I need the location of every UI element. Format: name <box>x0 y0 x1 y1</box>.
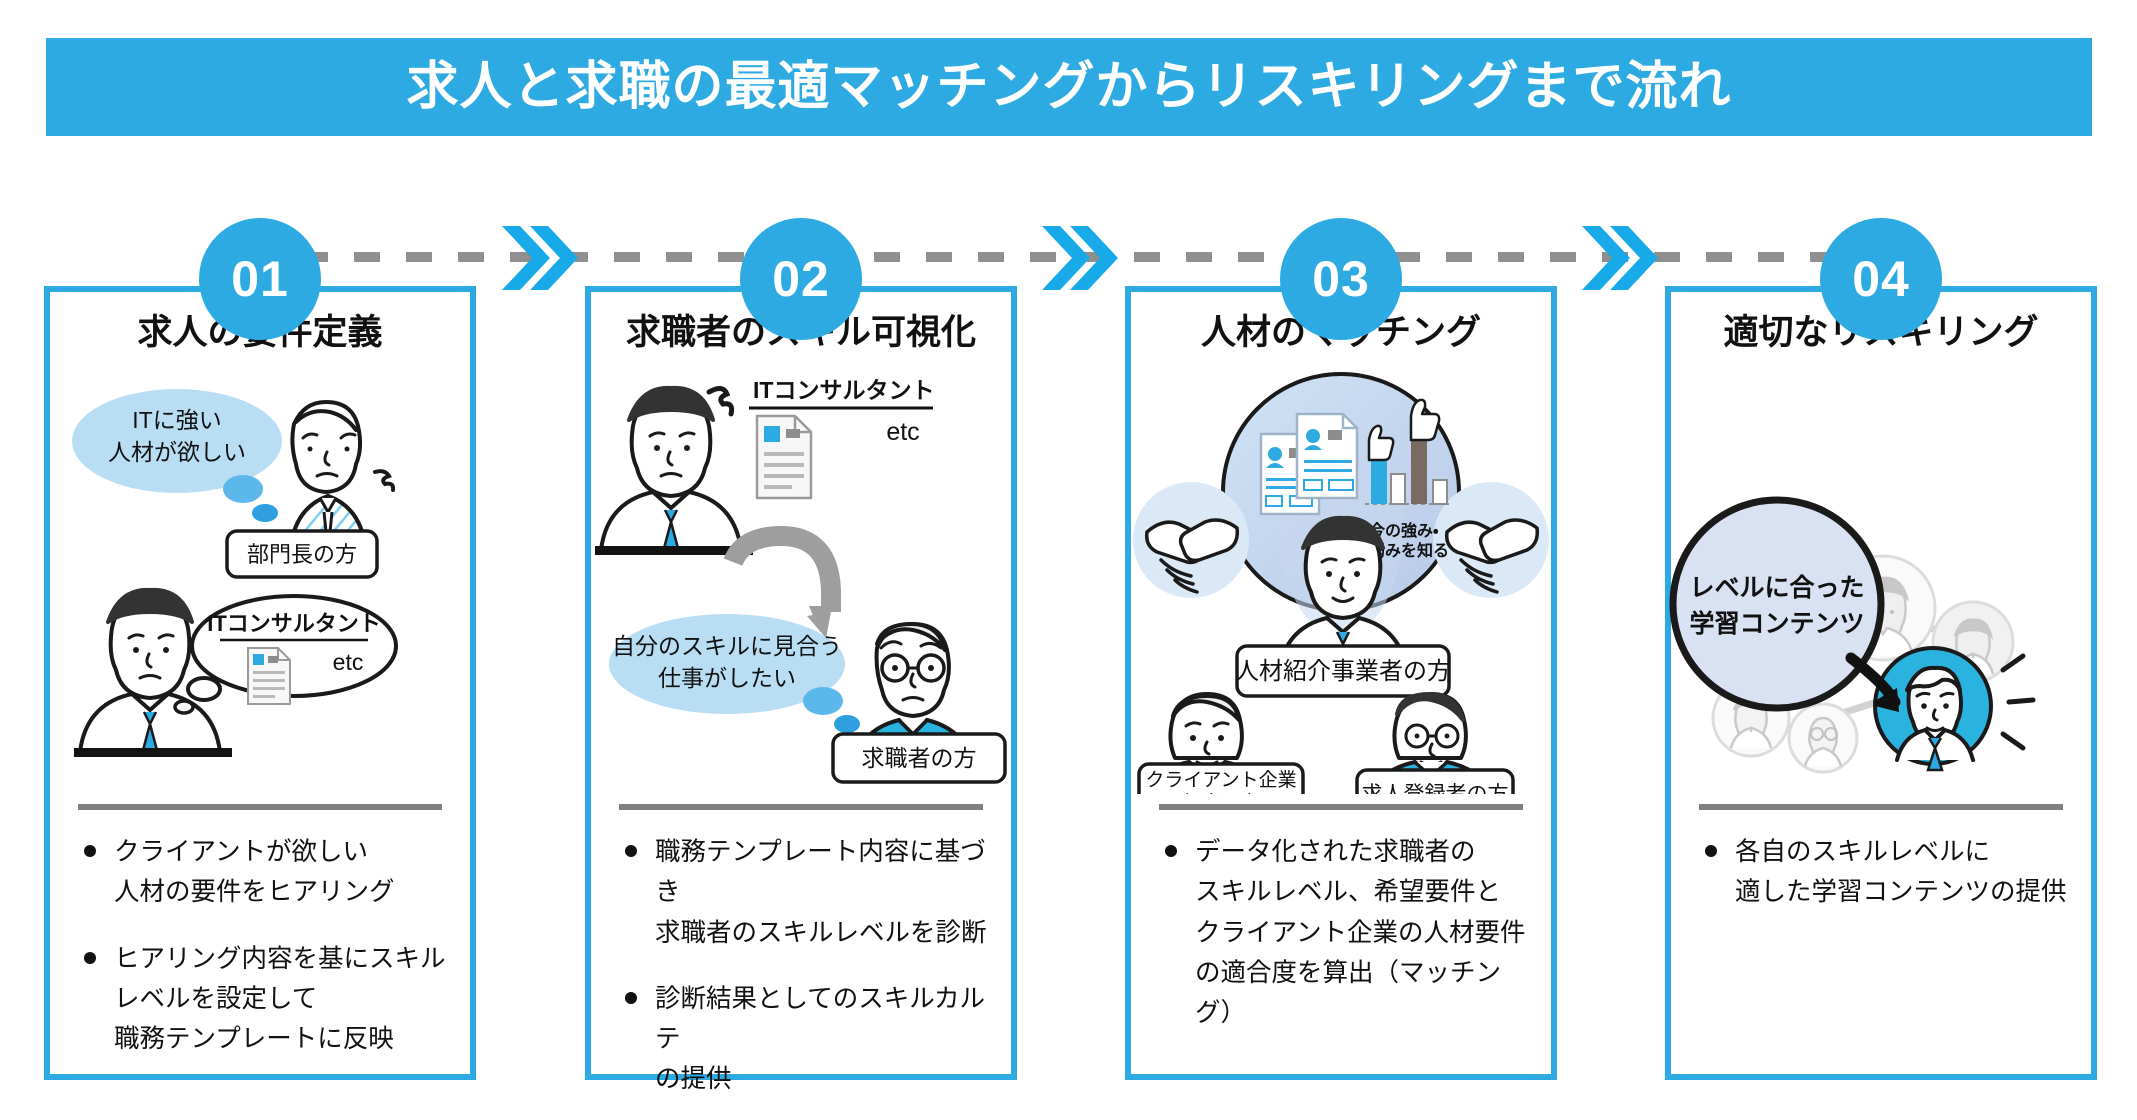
page-title-banner: 求人と求職の最適マッチングからリスキリングまで流れ <box>46 38 2092 136</box>
svg-text:クライアント企業: クライアント企業 <box>1145 769 1296 791</box>
page-title: 求人と求職の最適マッチングからリスキリングまで流れ <box>406 61 1731 113</box>
bullet-text: クライアントが欲しい 人材の要件をヒアリング <box>114 838 395 906</box>
svg-text:人材が欲しい: 人材が欲しい <box>108 439 246 465</box>
svg-text:レベルに合った: レベルに合った <box>1689 574 1864 602</box>
bullet-text: データ化された求職者の スキルレベル、希望要件と クライアント企業の人材要件 の… <box>1195 838 1525 1027</box>
svg-text:仕事がしたい: 仕事がしたい <box>658 665 796 691</box>
svg-text:学習コンテンツ: 学習コンテンツ <box>1689 609 1864 638</box>
list-item: データ化された求職者の スキルレベル、希望要件と クライアント企業の人材要件 の… <box>1161 832 1539 1033</box>
step-number-badge: 01 <box>199 218 321 340</box>
list-item: ヒアリング内容を基にスキル レベルを設定して 職務テンプレートに反映 <box>80 939 458 1060</box>
list-item: クライアントが欲しい 人材の要件をヒアリング <box>80 832 458 913</box>
svg-text:求人登録者の方: 求人登録者の方 <box>1362 783 1509 794</box>
double-chevron-right-icon <box>1578 222 1660 294</box>
bullet-text: 診断結果としてのスキルカルテ の提供 <box>655 985 985 1094</box>
double-chevron-right-icon <box>1038 222 1120 294</box>
svg-text:etc: etc <box>333 649 364 675</box>
step-03-illustration: 今の強み・ 弱みを知る 人材紹介事業者の方 <box>1125 356 1557 794</box>
bullet-list: クライアントが欲しい 人材の要件をヒアリング ヒアリング内容を基にスキル レベル… <box>80 832 458 1085</box>
step-02-illustration: ITコンサルタント etc <box>585 356 1017 794</box>
step-number-badge: 02 <box>740 218 862 340</box>
svg-text:自分のスキルに見合う: 自分のスキルに見合う <box>612 633 842 659</box>
step-number-badge: 03 <box>1280 218 1402 340</box>
bullet-list: データ化された求職者の スキルレベル、希望要件と クライアント企業の人材要件 の… <box>1161 832 1539 1059</box>
bullet-text: ヒアリング内容を基にスキル レベルを設定して 職務テンプレートに反映 <box>114 945 446 1054</box>
step-card-04[interactable]: 04 適切なリスキリング <box>1665 286 2097 1080</box>
step-04-illustration: レベルに合った 学習コンテンツ <box>1665 356 2097 794</box>
bullet-text: 職務テンプレート内容に基づき 求職者のスキルレベルを診断 <box>655 838 987 947</box>
section-divider <box>619 804 983 810</box>
step-01-illustration: ITに強い 人材が欲しい <box>44 356 476 794</box>
bullet-list: 各自のスキルレベルに 適した学習コンテンツの提供 <box>1701 832 2079 939</box>
list-item: 各自のスキルレベルに 適した学習コンテンツの提供 <box>1701 832 2079 913</box>
svg-text:ITコンサルタント: ITコンサルタント <box>207 611 381 636</box>
double-chevron-right-icon <box>498 222 580 294</box>
svg-text:担当の方: 担当の方 <box>1183 792 1259 794</box>
section-divider <box>1699 804 2063 810</box>
step-card-03[interactable]: 03 人材のマッチング <box>1125 286 1557 1080</box>
step-number-badge: 04 <box>1820 218 1942 340</box>
list-item: 職務テンプレート内容に基づき 求職者のスキルレベルを診断 <box>621 832 999 953</box>
section-divider <box>78 804 442 810</box>
svg-text:人材紹介事業者の方: 人材紹介事業者の方 <box>1235 658 1451 685</box>
svg-text:ITコンサルタント: ITコンサルタント <box>753 377 934 403</box>
bullet-text: 各自のスキルレベルに 適した学習コンテンツの提供 <box>1735 838 2067 906</box>
svg-text:etc: etc <box>886 418 919 446</box>
list-item: 診断結果としてのスキルカルテ の提供 <box>621 979 999 1100</box>
step-card-01[interactable]: 01 求人の要件定義 ITに強い 人材が欲しい <box>44 286 476 1080</box>
step-card-02[interactable]: 02 求職者のスキル可視化 <box>585 286 1017 1080</box>
svg-text:部門長の方: 部門長の方 <box>247 542 357 567</box>
svg-text:ITに強い: ITに強い <box>132 407 221 433</box>
section-divider <box>1159 804 1523 810</box>
svg-text:求職者の方: 求職者の方 <box>862 745 977 771</box>
infographic-page: 求人と求職の最適マッチングからリスキリングまで流れ 01 求人の要件定義 <box>0 0 2137 1120</box>
bullet-list: 職務テンプレート内容に基づき 求職者のスキルレベルを診断 診断結果としてのスキル… <box>621 832 999 1120</box>
